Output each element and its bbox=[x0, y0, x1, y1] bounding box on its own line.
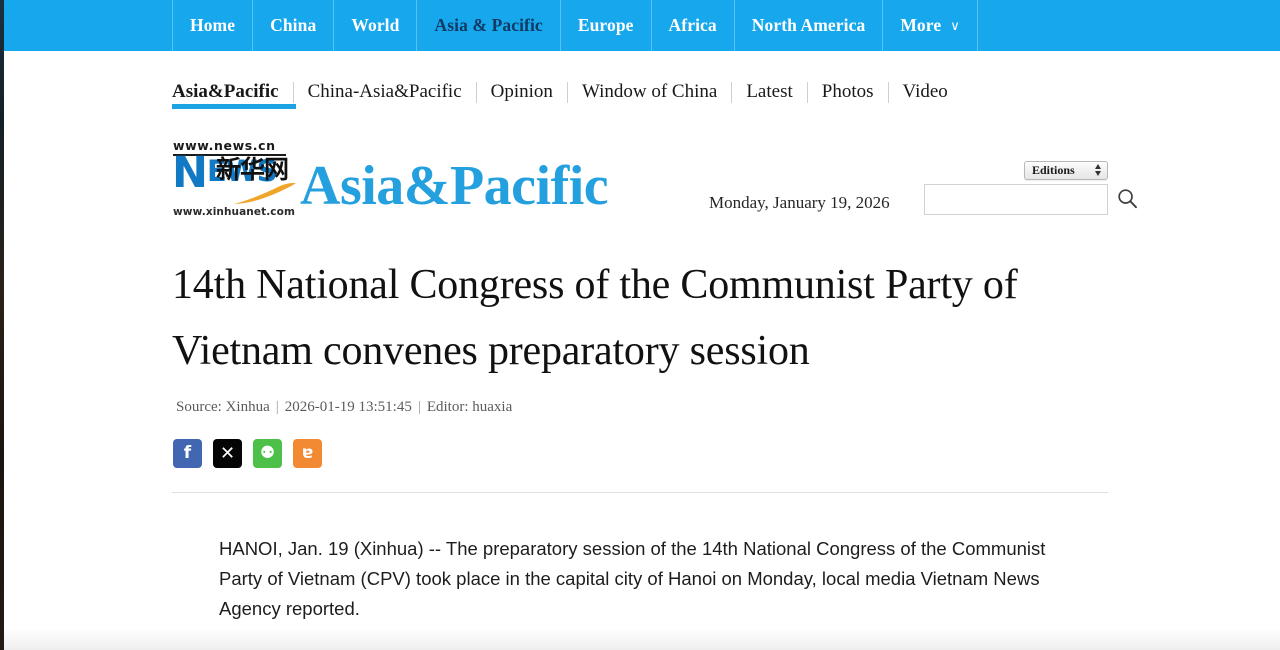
article-source: Source: Xinhua bbox=[176, 399, 270, 415]
facebook-share-button[interactable]: f bbox=[173, 439, 202, 468]
wechat-icon: ⚉ bbox=[260, 445, 275, 462]
nav-item-world[interactable]: World bbox=[333, 0, 416, 51]
masthead-title: Asia&Pacific bbox=[300, 156, 608, 216]
nav-item-label: Africa bbox=[669, 15, 717, 36]
logo-bottom-url: www.xinhuanet.com bbox=[173, 206, 295, 218]
article-byline: Source: Xinhua|2026-01-19 13:51:45|Edito… bbox=[176, 399, 512, 416]
byline-separator-1: | bbox=[276, 399, 279, 415]
editions-label: Editions bbox=[1032, 163, 1075, 178]
nav-item-label: World bbox=[351, 15, 399, 36]
nav-item-more[interactable]: More∨ bbox=[882, 0, 977, 51]
primary-navigation-bar: HomeChinaWorldAsia & PacificEuropeAfrica… bbox=[0, 0, 1280, 51]
article-body-paragraph: HANOI, Jan. 19 (Xinhua) -- The preparato… bbox=[219, 534, 1059, 624]
topnav-underline bbox=[0, 51, 1280, 53]
updown-stepper-icon bbox=[1095, 164, 1101, 176]
nav-item-label: North America bbox=[752, 15, 866, 36]
subnav-item-window-of-china[interactable]: Window of China bbox=[568, 76, 731, 108]
nav-item-china[interactable]: China bbox=[252, 0, 333, 51]
logo-swoosh-icon bbox=[234, 183, 296, 205]
search-box[interactable] bbox=[924, 184, 1108, 215]
article-timestamp: 2026-01-19 13:51:45 bbox=[285, 399, 412, 415]
nav-item-africa[interactable]: Africa bbox=[651, 0, 734, 51]
nav-item-europe[interactable]: Europe bbox=[560, 0, 651, 51]
chevron-down-icon: ∨ bbox=[950, 18, 960, 34]
logo-chinese-characters: 新华网 bbox=[216, 156, 288, 183]
xinhua-logo[interactable]: www.news.cn NEWS 新华网 www.xinhuanet.com bbox=[172, 139, 296, 221]
masthead-date: Monday, January 19, 2026 bbox=[709, 193, 890, 213]
article-editor: Editor: huaxia bbox=[427, 399, 512, 415]
subnav-item-video[interactable]: Video bbox=[889, 76, 962, 108]
masthead: www.news.cn NEWS 新华网 www.xinhuanet.com A… bbox=[172, 136, 1108, 228]
page-bottom-fade bbox=[4, 628, 1280, 650]
subnav-item-photos[interactable]: Photos bbox=[808, 76, 888, 108]
browser-left-edge bbox=[0, 0, 4, 650]
subnav-item-china-asia-pacific[interactable]: China-Asia&Pacific bbox=[294, 76, 476, 108]
x-share-button[interactable]: ✕ bbox=[213, 439, 242, 468]
nav-item-home[interactable]: Home bbox=[172, 0, 252, 51]
nav-item-label: Asia & Pacific bbox=[434, 15, 542, 36]
nav-item-north-america[interactable]: North America bbox=[734, 0, 883, 51]
nav-item-asia-pacific[interactable]: Asia & Pacific bbox=[416, 0, 559, 51]
logo-wordmark-initial: N bbox=[172, 148, 207, 198]
weibo-icon: ɐ bbox=[302, 445, 313, 462]
search-icon bbox=[1117, 188, 1138, 212]
search-input[interactable] bbox=[931, 186, 1111, 213]
subnav-active-underline bbox=[172, 104, 296, 109]
search-button[interactable] bbox=[1111, 185, 1144, 214]
article-divider-rule bbox=[172, 492, 1108, 493]
nav-item-label: Home bbox=[190, 15, 235, 36]
social-share-row: f✕⚉ɐ bbox=[173, 439, 322, 468]
x-icon: ✕ bbox=[220, 445, 235, 463]
facebook-icon: f bbox=[184, 445, 191, 462]
nav-item-label: China bbox=[270, 15, 316, 36]
topnav-left-spacer bbox=[0, 0, 172, 51]
article-headline: 14th National Congress of the Communist … bbox=[172, 252, 1102, 384]
byline-separator-2: | bbox=[418, 399, 421, 415]
nav-item-label: Europe bbox=[578, 15, 634, 36]
nav-item-label: More bbox=[900, 15, 941, 36]
wechat-share-button[interactable]: ⚉ bbox=[253, 439, 282, 468]
subnav-item-latest[interactable]: Latest bbox=[732, 76, 806, 108]
subnav-item-opinion[interactable]: Opinion bbox=[477, 76, 567, 108]
editions-dropdown[interactable]: Editions bbox=[1024, 161, 1108, 180]
topnav-right-spacer bbox=[977, 0, 1159, 51]
article-page: HomeChinaWorldAsia & PacificEuropeAfrica… bbox=[0, 0, 1280, 650]
weibo-share-button[interactable]: ɐ bbox=[293, 439, 322, 468]
